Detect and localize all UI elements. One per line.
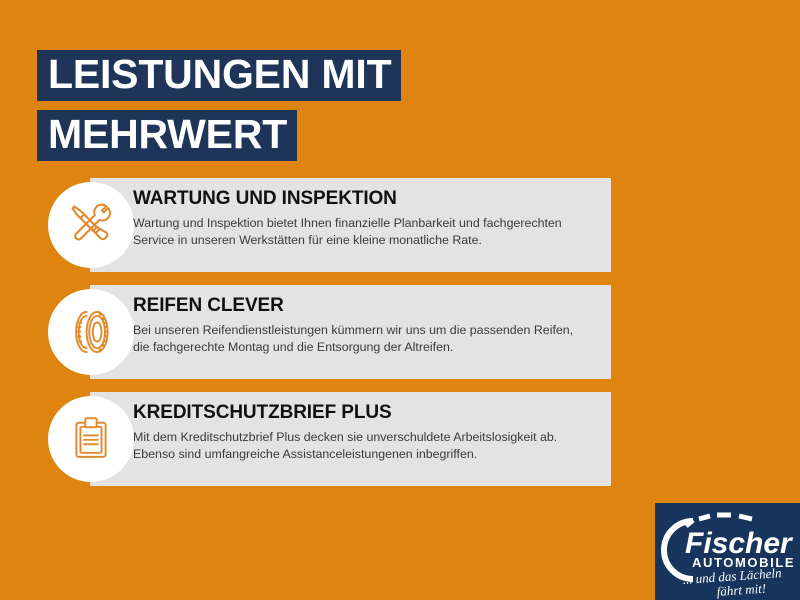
clipboard-icon: [48, 396, 134, 482]
tire-icon: [48, 289, 134, 375]
card-title: KREDITSCHUTZBRIEF PLUS: [133, 402, 603, 424]
card-body-line-1: Mit dem Kreditschutzbrief Plus decken si…: [133, 429, 603, 446]
card-text: WARTUNG UND INSPEKTION Wartung und Inspe…: [133, 188, 603, 249]
service-card-kreditschutzbrief-plus[interactable]: KREDITSCHUTZBRIEF PLUS Mit dem Kreditsch…: [0, 392, 800, 486]
card-title: REIFEN CLEVER: [133, 295, 603, 317]
service-card-list: WARTUNG UND INSPEKTION Wartung und Inspe…: [0, 178, 800, 499]
card-title: WARTUNG UND INSPEKTION: [133, 188, 603, 210]
wrench-screwdriver-icon: [48, 182, 134, 268]
slide-canvas: LEISTUNGEN MIT MEHRWERT WARTUNG U: [0, 0, 800, 600]
service-card-wartung-und-inspektion[interactable]: WARTUNG UND INSPEKTION Wartung und Inspe…: [0, 178, 800, 272]
page-title-line-1: LEISTUNGEN MIT: [37, 50, 401, 101]
page-title-line-2: MEHRWERT: [37, 110, 297, 161]
page-title: LEISTUNGEN MIT MEHRWERT: [37, 50, 401, 161]
card-body-line-1: Bei unseren Reifendienstleistungen kümme…: [133, 322, 603, 339]
logo-artwork: Fischer AUTOMOBILE ... und das Lächeln f…: [655, 503, 800, 600]
card-body-line-1: Wartung und Inspektion bietet Ihnen fina…: [133, 215, 603, 232]
card-text: REIFEN CLEVER Bei unseren Reifendienstle…: [133, 295, 603, 356]
card-body-line-2: Ebenso sind umfangreiche Assistanceleist…: [133, 446, 603, 463]
logo-tagline-line-2: fährt mit!: [716, 581, 766, 599]
card-body-line-2: Service in unseren Werkstätten für eine …: [133, 232, 603, 249]
company-logo[interactable]: Fischer AUTOMOBILE ... und das Lächeln f…: [655, 503, 800, 600]
service-card-reifen-clever[interactable]: REIFEN CLEVER Bei unseren Reifendienstle…: [0, 285, 800, 379]
card-text: KREDITSCHUTZBRIEF PLUS Mit dem Kreditsch…: [133, 402, 603, 463]
card-body-line-2: die fachgerechte Montag und die Entsorgu…: [133, 339, 603, 356]
